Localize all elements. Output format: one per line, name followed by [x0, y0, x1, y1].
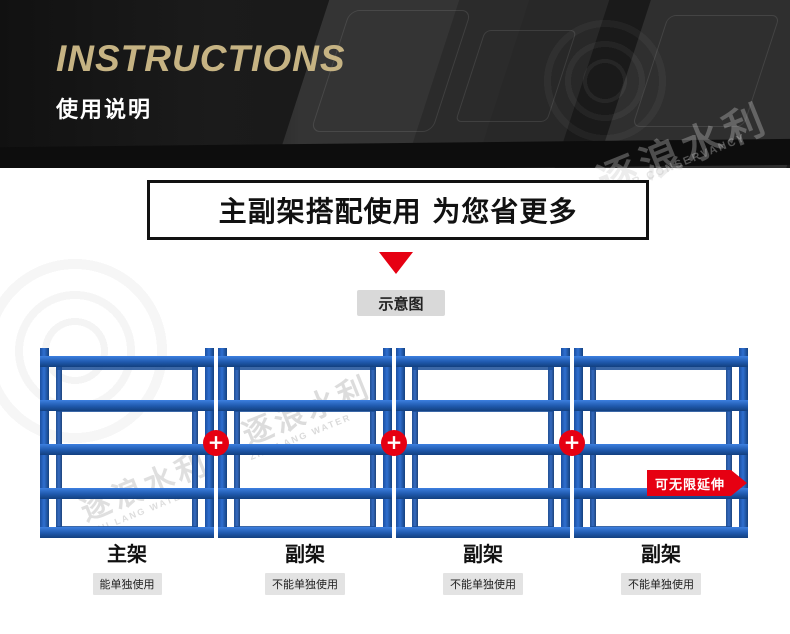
shelf-level	[218, 527, 392, 538]
plus-connector-icon: +	[559, 430, 585, 456]
shelf-caption-name: 副架	[396, 538, 570, 567]
shelf-caption-name: 副架	[218, 538, 392, 567]
shelf-bay	[574, 348, 748, 538]
down-arrow-icon	[379, 252, 413, 274]
shelf-level	[218, 400, 392, 411]
plus-connector-icon: +	[203, 430, 229, 456]
shelf-bay	[218, 348, 392, 538]
extend-arrow: 可无限延伸	[647, 470, 747, 496]
shelf-post	[739, 348, 748, 538]
extend-arrow-label: 可无限延伸	[647, 470, 731, 496]
banner-title-chinese: 使用说明	[56, 92, 152, 124]
shelf-level	[218, 488, 392, 499]
shelf-post	[40, 348, 49, 538]
shelf-caption: 主架能单独使用	[40, 538, 214, 595]
shelf-level	[574, 356, 748, 367]
diagram-label: 示意图	[357, 290, 445, 316]
shelf-caption-name: 副架	[574, 538, 748, 567]
banner-title-english: INSTRUCTIONS	[56, 38, 346, 80]
shelf-level	[396, 356, 570, 367]
extend-arrow-tip-icon	[731, 470, 747, 496]
shelf-caption: 副架不能单独使用	[218, 538, 392, 595]
shelf-caption: 副架不能单独使用	[574, 538, 748, 595]
header-banner: INSTRUCTIONS 使用说明	[0, 0, 790, 168]
shelf-level	[40, 400, 214, 411]
shelf-level	[40, 527, 214, 538]
shelf-level	[40, 356, 214, 367]
shelf-level	[218, 444, 392, 455]
shelf-caption-note: 不能单独使用	[621, 573, 701, 595]
shelf-level	[396, 527, 570, 538]
shelf-level	[574, 400, 748, 411]
banner-swirl-decor	[530, 6, 680, 156]
shelf-bay	[40, 348, 214, 538]
shelf-level	[40, 488, 214, 499]
shelf-caption-note: 不能单独使用	[443, 573, 523, 595]
plus-connector-icon: +	[381, 430, 407, 456]
shelf-caption: 副架不能单独使用	[396, 538, 570, 595]
banner-dark-gradient	[0, 0, 300, 168]
shelf-level	[396, 488, 570, 499]
shelf-level	[574, 527, 748, 538]
shelf-level	[396, 400, 570, 411]
shelf-level	[40, 444, 214, 455]
shelf-caption-name: 主架	[40, 538, 214, 567]
shelf-bay	[396, 348, 570, 538]
shelf-level	[218, 356, 392, 367]
headline-text: 主副架搭配使用 为您省更多	[219, 190, 578, 230]
shelf-level	[574, 444, 748, 455]
shelf-caption-note: 不能单独使用	[265, 573, 345, 595]
headline-box: 主副架搭配使用 为您省更多	[147, 180, 649, 240]
shelf-caption-note: 能单独使用	[93, 573, 162, 595]
shelf-level	[396, 444, 570, 455]
